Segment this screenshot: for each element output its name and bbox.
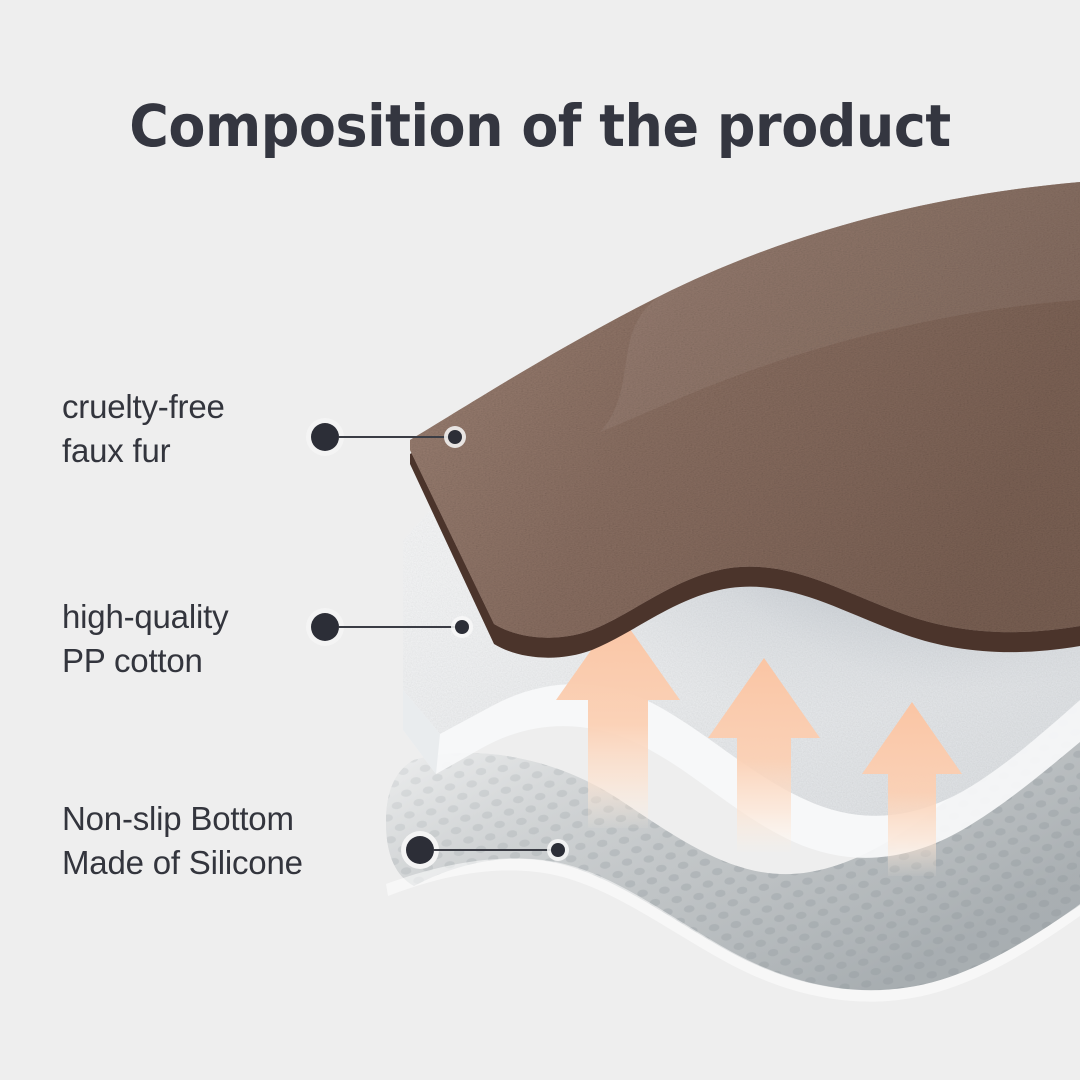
end-marker-dot-2[interactable]	[455, 620, 469, 634]
marker-dot-3[interactable]	[406, 836, 434, 864]
callout-leader-1	[306, 417, 476, 457]
leader-line-2	[339, 626, 464, 628]
marker-dot-1[interactable]	[311, 423, 339, 451]
callout-label-non-slip-bottom: Non-slip Bottom Made of Silicone	[62, 797, 303, 884]
marker-dot-2[interactable]	[311, 613, 339, 641]
callout-leader-2	[306, 607, 486, 647]
end-marker-dot-3[interactable]	[551, 843, 565, 857]
leader-line-1	[339, 436, 457, 438]
callout-leader-3	[401, 830, 581, 870]
callout-label-high-quality-pp-cotton: high-quality PP cotton	[62, 595, 228, 682]
product-layer-illustration	[0, 0, 1080, 1080]
infographic-canvas: Composition of the product	[0, 0, 1080, 1080]
callout-label-cruelty-free-faux-fur: cruelty-free faux fur	[62, 385, 225, 472]
end-marker-dot-1[interactable]	[448, 430, 462, 444]
leader-line-3	[434, 849, 560, 851]
faux-fur-top-layer	[410, 182, 1080, 658]
